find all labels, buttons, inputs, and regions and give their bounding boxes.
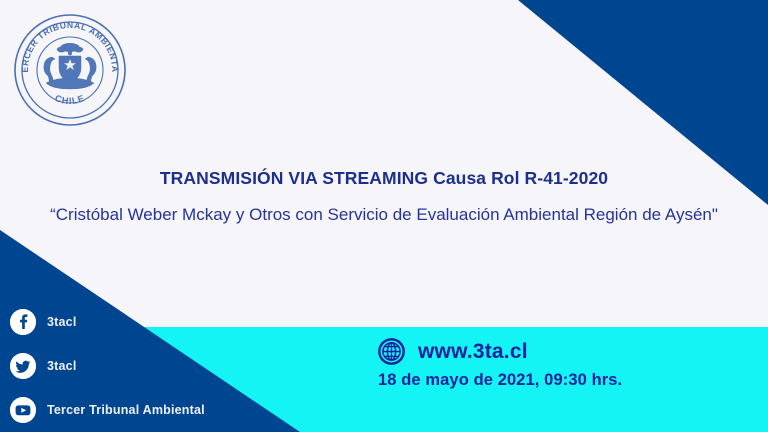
social-link-facebook[interactable]: 3tacl (10, 309, 205, 335)
website-row[interactable]: www.3ta.cl (378, 338, 708, 365)
case-subtitle: “Cristóbal Weber Mckay y Otros con Servi… (0, 205, 768, 225)
social-label-twitter: 3tacl (47, 359, 77, 373)
twitter-icon (10, 353, 36, 379)
headline-block: TRANSMISIÓN VIA STREAMING Causa Rol R-41… (0, 168, 768, 225)
facebook-icon (10, 309, 36, 335)
svg-text:CHILE: CHILE (53, 93, 86, 106)
social-links-list: 3tacl 3tacl Tercer Tribunal Ambiental (10, 309, 205, 423)
youtube-icon (10, 397, 36, 423)
social-label-facebook: 3tacl (47, 315, 77, 329)
event-datetime: 18 de mayo de 2021, 09:30 hrs. (378, 371, 708, 390)
social-link-youtube[interactable]: Tercer Tribunal Ambiental (10, 397, 205, 423)
web-info-block: www.3ta.cl 18 de mayo de 2021, 09:30 hrs… (378, 338, 708, 390)
tribunal-seal-logo: TERCER TRIBUNAL AMBIENTAL CHILE (12, 12, 128, 128)
social-link-twitter[interactable]: 3tacl (10, 353, 205, 379)
page-title: TRANSMISIÓN VIA STREAMING Causa Rol R-41… (0, 168, 768, 189)
website-url[interactable]: www.3ta.cl (418, 340, 528, 364)
streaming-announcement-banner: TERCER TRIBUNAL AMBIENTAL CHILE TRAN (0, 0, 768, 432)
social-label-youtube: Tercer Tribunal Ambiental (47, 403, 205, 417)
globe-icon (378, 338, 405, 365)
